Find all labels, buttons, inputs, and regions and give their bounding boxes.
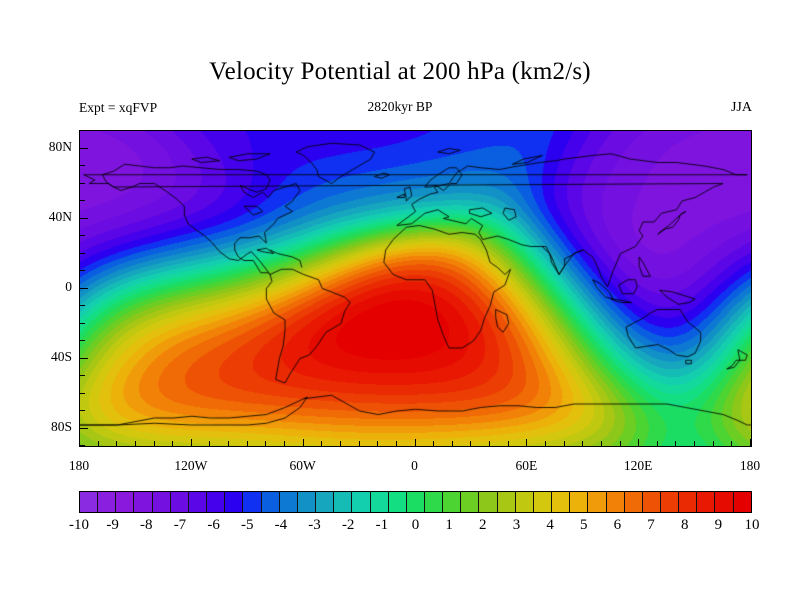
x-axis-minor-tick — [731, 441, 732, 446]
colorbar-cell — [153, 492, 171, 512]
x-axis-minor-tick — [359, 441, 360, 446]
x-axis-minor-tick — [98, 441, 99, 446]
page-title: Velocity Potential at 200 hPa (km2/s) — [0, 58, 800, 86]
x-axis-minor-tick — [265, 441, 266, 446]
colorbar-cell — [498, 492, 516, 512]
y-axis-minor-tick — [80, 410, 85, 411]
x-axis-minor-tick — [657, 441, 658, 446]
y-axis-tick-label: 80S — [26, 419, 72, 435]
y-axis-tick-label: 40S — [26, 349, 72, 365]
x-axis-minor-tick — [508, 441, 509, 446]
colorbar-tick-label: 10 — [732, 517, 772, 534]
x-axis-minor-tick — [228, 441, 229, 446]
x-axis-tick — [79, 439, 80, 446]
velocity-potential-figure: Velocity Potential at 200 hPa (km2/s) Ex… — [0, 0, 800, 600]
colorbar-cell — [298, 492, 316, 512]
x-axis-minor-tick — [452, 441, 453, 446]
y-axis-minor-tick — [80, 340, 85, 341]
colorbar-cell — [316, 492, 334, 512]
x-axis-minor-tick — [582, 441, 583, 446]
y-axis-tick-label: 0 — [26, 279, 72, 295]
x-axis-minor-tick — [284, 441, 285, 446]
colorbar-cell — [352, 492, 370, 512]
y-axis-tick-label: 40N — [26, 209, 72, 225]
x-axis-tick-label: 120E — [608, 458, 668, 474]
x-axis-minor-tick — [601, 441, 602, 446]
y-axis-minor-tick — [80, 165, 85, 166]
y-axis-tick — [80, 288, 88, 289]
colorbar-cell — [715, 492, 733, 512]
colorbar-cell — [734, 492, 751, 512]
y-axis-minor-tick — [80, 235, 85, 236]
colorbar-cell — [225, 492, 243, 512]
map-plot-area — [79, 130, 752, 447]
y-axis-minor-tick — [80, 253, 85, 254]
y-axis-minor-tick — [80, 270, 85, 271]
colorbar-cell — [262, 492, 280, 512]
x-axis-tick — [191, 439, 192, 446]
velocity-potential-field — [80, 131, 751, 446]
x-axis-tick — [415, 439, 416, 446]
colorbar-cell — [98, 492, 116, 512]
x-axis-tick-label: 0 — [385, 458, 445, 474]
colorbar-cell — [570, 492, 588, 512]
x-axis-minor-tick — [620, 441, 621, 446]
colorbar-cell — [389, 492, 407, 512]
colorbar-cell — [189, 492, 207, 512]
colorbar-cell — [679, 492, 697, 512]
x-axis-minor-tick — [172, 441, 173, 446]
x-axis-minor-tick — [545, 441, 546, 446]
x-axis-minor-tick — [433, 441, 434, 446]
y-axis-minor-tick — [80, 375, 85, 376]
x-axis-tick — [303, 439, 304, 446]
x-axis-minor-tick — [377, 441, 378, 446]
colorbar-cell — [552, 492, 570, 512]
x-axis-tick — [638, 439, 639, 446]
x-axis-minor-tick — [209, 441, 210, 446]
x-axis-tick — [526, 439, 527, 446]
x-axis-minor-tick — [340, 441, 341, 446]
x-axis-minor-tick — [135, 441, 136, 446]
y-axis-tick — [80, 428, 88, 429]
y-axis-tick — [80, 358, 88, 359]
x-axis-tick-label: 120W — [161, 458, 221, 474]
y-axis-tick — [80, 218, 88, 219]
colorbar-cell — [280, 492, 298, 512]
x-axis-minor-tick — [247, 441, 248, 446]
x-axis-minor-tick — [396, 441, 397, 446]
season-label: JJA — [731, 100, 752, 116]
y-axis-minor-tick — [80, 130, 85, 131]
x-axis-minor-tick — [489, 441, 490, 446]
x-axis-tick-label: 60E — [496, 458, 556, 474]
colorbar-cell — [134, 492, 152, 512]
colorbar-cell — [625, 492, 643, 512]
x-axis-tick — [750, 439, 751, 446]
y-axis-minor-tick — [80, 305, 85, 306]
y-axis-minor-tick — [80, 183, 85, 184]
colorbar-cell — [479, 492, 497, 512]
colorbar-cell — [371, 492, 389, 512]
y-axis-minor-tick — [80, 323, 85, 324]
colorbar-cell — [443, 492, 461, 512]
x-axis-minor-tick — [694, 441, 695, 446]
colorbar-cell — [407, 492, 425, 512]
colorbar-cell — [607, 492, 625, 512]
colorbar-cell — [461, 492, 479, 512]
colorbar-cell — [116, 492, 134, 512]
colorbar-cell — [534, 492, 552, 512]
colorbar-cell — [588, 492, 606, 512]
x-axis-minor-tick — [321, 441, 322, 446]
y-axis-minor-tick — [80, 445, 85, 446]
x-axis-minor-tick — [713, 441, 714, 446]
x-axis-tick-label: 180 — [720, 458, 780, 474]
y-axis-minor-tick — [80, 200, 85, 201]
y-axis-minor-tick — [80, 393, 85, 394]
x-axis-minor-tick — [675, 441, 676, 446]
colorbar-cell — [697, 492, 715, 512]
x-axis-minor-tick — [564, 441, 565, 446]
x-axis-minor-tick — [154, 441, 155, 446]
colorbar-cell — [334, 492, 352, 512]
colorbar — [79, 491, 752, 513]
colorbar-cell — [80, 492, 98, 512]
colorbar-cell — [425, 492, 443, 512]
x-axis-tick-label: 180 — [49, 458, 109, 474]
colorbar-cell — [516, 492, 534, 512]
x-axis-tick-label: 60W — [273, 458, 333, 474]
colorbar-cell — [643, 492, 661, 512]
colorbar-cell — [207, 492, 225, 512]
colorbar-cell — [661, 492, 679, 512]
x-axis-minor-tick — [116, 441, 117, 446]
colorbar-cell — [243, 492, 261, 512]
x-axis-minor-tick — [470, 441, 471, 446]
y-axis-tick — [80, 148, 88, 149]
y-axis-tick-label: 80N — [26, 139, 72, 155]
period-label: 2820kyr BP — [0, 99, 800, 115]
colorbar-cell — [171, 492, 189, 512]
